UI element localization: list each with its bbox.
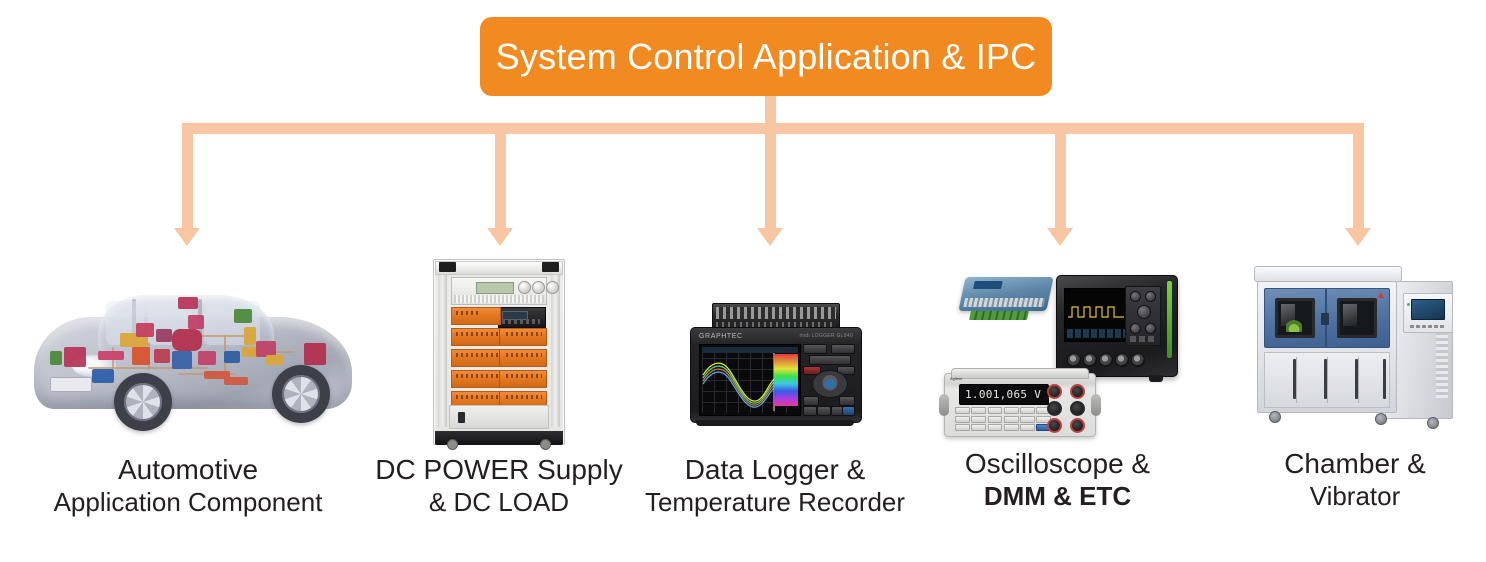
arrow-to-data-logger-head [757,228,783,246]
rack-cabinet-icon [433,259,565,445]
arrow-to-automotive-head [174,228,200,246]
chamber-image-area [1240,255,1470,460]
environmental-chamber-icon [1257,267,1453,427]
caption-line2: Vibrator [1240,481,1470,513]
page-title: System Control Application & IPC [496,39,1037,75]
diagram-canvas: System Control Application & IPC [0,0,1486,562]
column-data-logger: GRAPHTEC midi LOGGER GL840 [625,255,925,460]
caption-line2: Application Component [18,487,358,519]
caption-line2: Temperature Recorder [625,487,925,519]
arrow-to-automotive-stem [182,123,193,228]
arrow-to-dc-power-stem [495,123,506,228]
column-oscilloscope: Agilent 1.001,065 V DC [930,255,1185,460]
data-logger-image-area: GRAPHTEC midi LOGGER GL840 [625,255,925,460]
caption-data-logger: Data Logger & Temperature Recorder [625,453,925,519]
caption-line1: DC POWER Supply [358,453,640,487]
oscilloscope-image-area: Agilent 1.001,065 V DC [930,255,1185,460]
caption-line1: Automotive [18,453,358,487]
caption-line1: Chamber & [1240,447,1470,481]
arrow-to-oscilloscope-stem [1055,123,1066,228]
caption-automotive: Automotive Application Component [18,453,358,519]
caption-line1: Data Logger & [625,453,925,487]
dmm-brand-label: Agilent [950,376,962,381]
data-logger-brand-label: GRAPHTEC [699,333,743,340]
car-cutaway-icon [28,289,358,439]
caption-line1: Oscilloscope & [930,447,1185,481]
caption-chamber: Chamber & Vibrator [1240,447,1470,513]
caption-line2: DMM & ETC [930,481,1185,513]
system-header-box: System Control Application & IPC [480,17,1052,96]
digital-multimeter-icon: Agilent 1.001,065 V DC [944,373,1096,437]
column-dc-power: DC POWER Supply & DC LOAD [358,255,640,460]
oscilloscope-icon [1056,275,1178,377]
rack-controller [498,307,546,328]
data-logger-icon: GRAPHTEC midi LOGGER GL840 [690,303,860,421]
arrow-to-data-logger-stem [765,123,776,228]
automotive-image-area [18,255,358,460]
chamber-control-panel[interactable] [1403,293,1453,333]
daq-module-icon [958,277,1053,311]
column-chamber: Chamber & Vibrator [1240,255,1470,460]
arrow-to-chamber-head [1345,228,1371,246]
caption-oscilloscope: Oscilloscope & DMM & ETC [930,447,1185,513]
caption-line2: & DC LOAD [358,487,640,519]
arrow-to-dc-power-head [487,228,513,246]
column-automotive: Automotive Application Component [18,255,358,460]
arrow-to-oscilloscope-head [1047,228,1073,246]
connector-main-stem [765,96,776,126]
caption-dc-power: DC POWER Supply & DC LOAD [358,453,640,519]
dc-power-image-area [358,255,640,460]
arrow-to-chamber-stem [1353,123,1364,228]
